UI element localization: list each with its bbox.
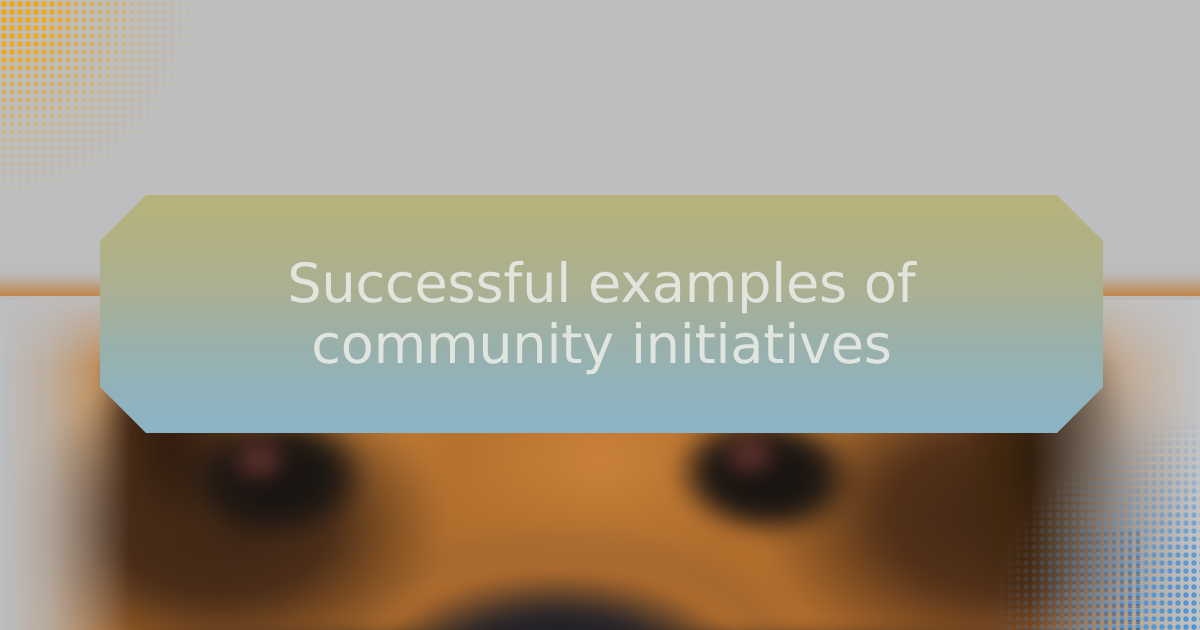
- top-left-dot-pattern-dense-icon: [0, 0, 70, 70]
- bottom-right-dot-pattern-dark-icon: [990, 530, 1140, 630]
- header-card: Successful examples of community initiat…: [0, 0, 1200, 630]
- page-title: Successful examples of community initiat…: [222, 253, 982, 375]
- title-banner: Successful examples of community initiat…: [100, 195, 1103, 433]
